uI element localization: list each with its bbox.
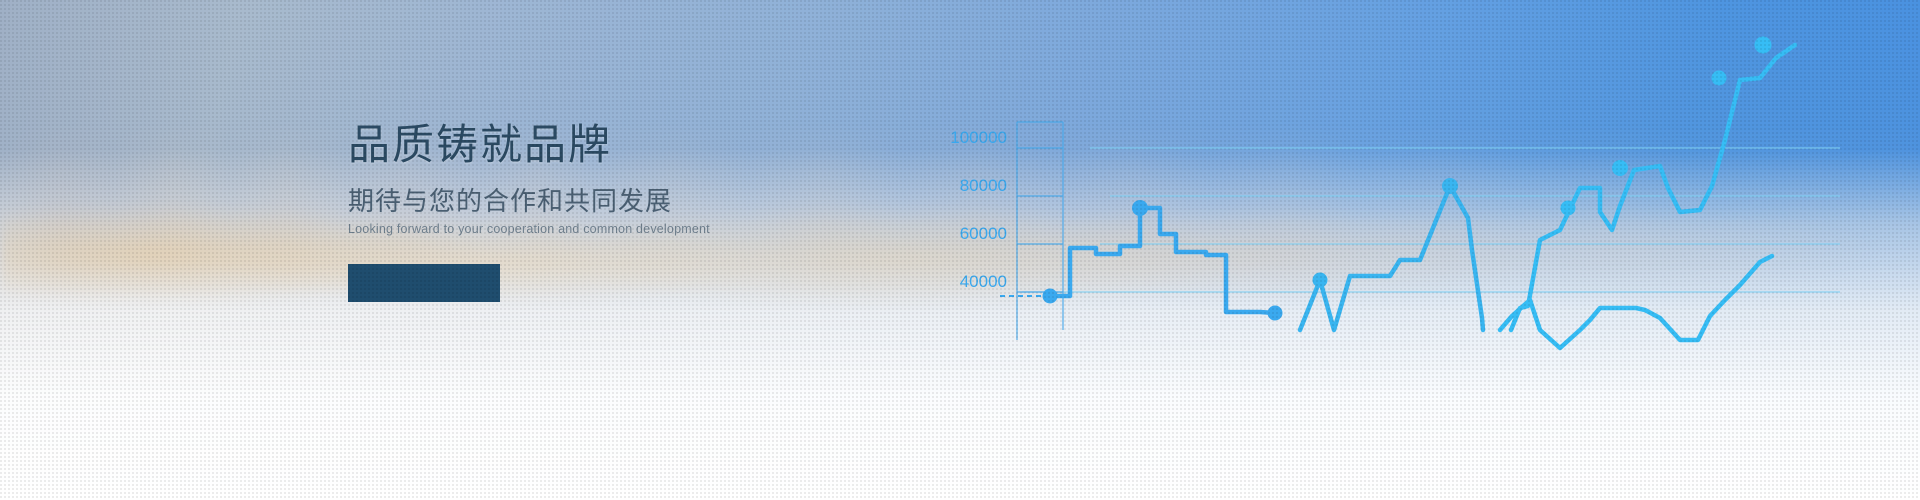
page-title: 品质铸就品牌 (348, 124, 768, 166)
banner-subtitle-en: Looking forward to your cooperation and … (348, 223, 768, 236)
banner-subtitle: 期待与您的合作和共同发展 (348, 188, 768, 214)
hero-banner: 100000 80000 60000 40000 (0, 0, 1920, 500)
cta-button[interactable] (348, 264, 500, 302)
background-haze (0, 150, 1920, 330)
banner-copy: 品质铸就品牌 期待与您的合作和共同发展 Looking forward to y… (348, 124, 768, 302)
